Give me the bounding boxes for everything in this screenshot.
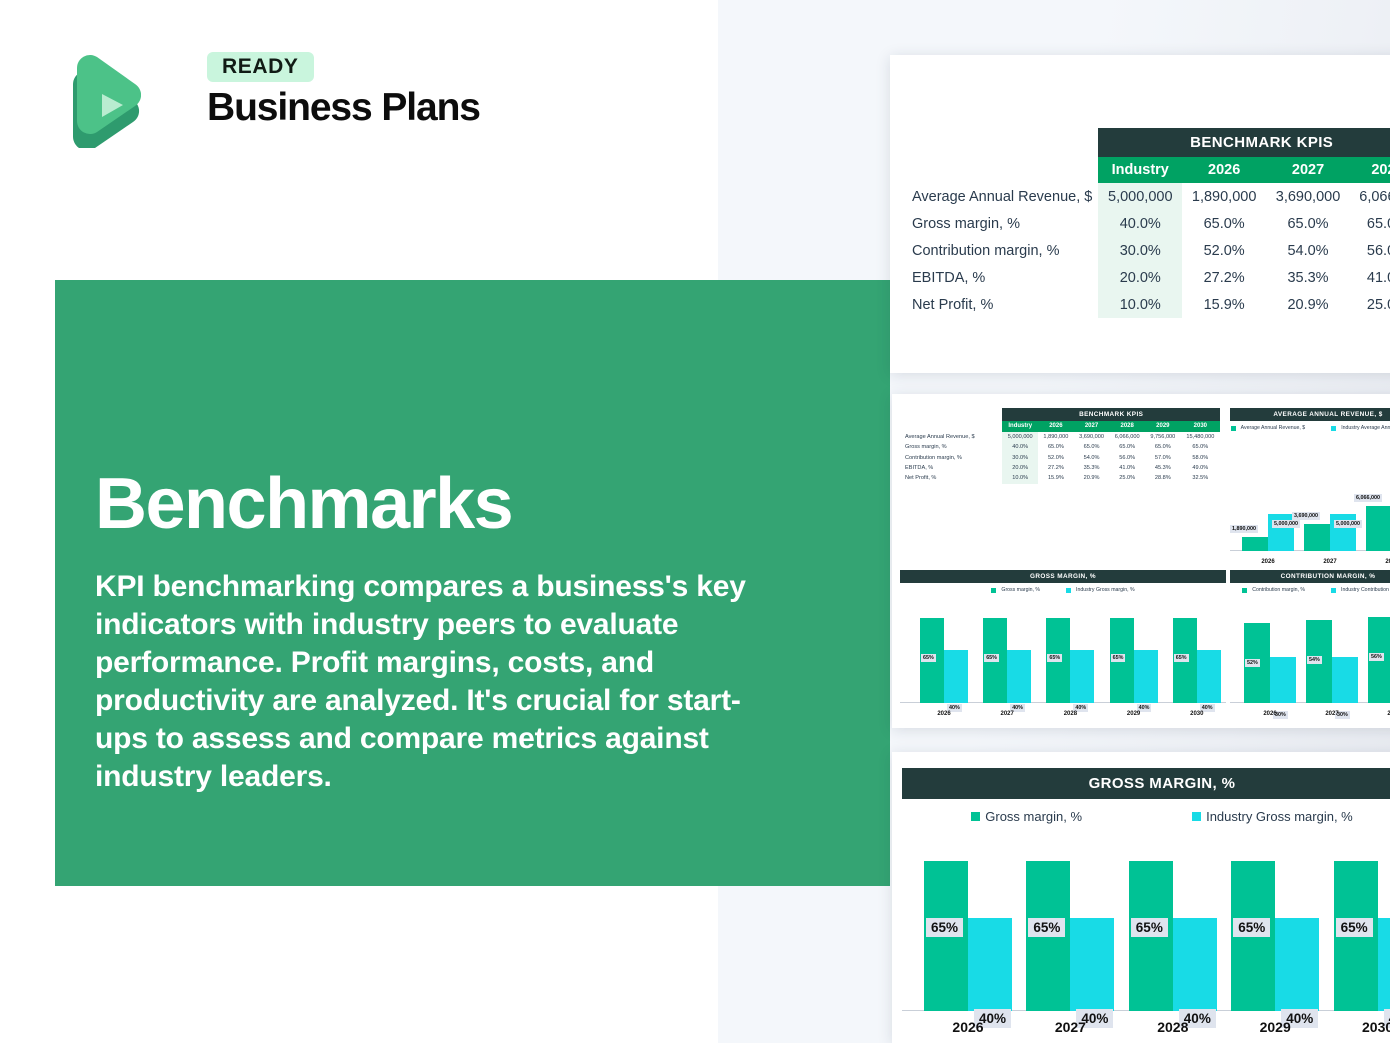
table-cell-value: 65.0% xyxy=(1181,442,1220,452)
table-body-top: BENCHMARK KPISIndustry202620272028Averag… xyxy=(900,128,1390,318)
table-row-label: Net Profit, % xyxy=(900,473,1002,483)
table-row: Average Annual Revenue, $5,000,0001,890,… xyxy=(900,432,1220,442)
x-axis-label: 2026 xyxy=(908,711,980,717)
table-rowlabel-header xyxy=(900,157,1098,183)
chart-average-annual-revenue: AVERAGE ANNUAL REVENUE, $ Average Annual… xyxy=(1230,408,1390,568)
table-cell-value: 35.3% xyxy=(1074,463,1110,473)
legend-swatch xyxy=(991,588,996,593)
table-cell-industry: 40.0% xyxy=(1002,442,1038,452)
chart-group: 65%40%2029 xyxy=(1098,597,1161,719)
page-title: Benchmarks xyxy=(95,468,512,540)
table-cell-value: 15.9% xyxy=(1182,291,1266,318)
chart-group: 65%40%2026 xyxy=(908,597,971,719)
chart-group: 6,066,0005,000,0002028 xyxy=(1360,435,1390,567)
benchmark-kpis-table-full: BENCHMARK KPISIndustry202620272028202920… xyxy=(900,408,1220,484)
ready-badge: READY xyxy=(207,52,314,82)
table-row-label: EBITDA, % xyxy=(900,264,1098,291)
table-row: EBITDA, %20.0%27.2%35.3%41.0% xyxy=(900,264,1390,291)
brand-wordmark: READY Business Plans xyxy=(207,52,487,129)
table-column-header: 2029 xyxy=(1145,421,1181,432)
chart-plot-gross-margin-mini: 65%40%202665%40%202765%40%202865%40%2029… xyxy=(900,597,1226,719)
table-row: Gross margin, %40.0%65.0%65.0%65.0% xyxy=(900,210,1390,237)
table-row: Average Annual Revenue, $5,000,0001,890,… xyxy=(900,183,1390,210)
table-cell-value: 56.0% xyxy=(1350,237,1390,264)
card-gross-margin-large: GROSS MARGIN, % Gross margin, %Industry … xyxy=(892,752,1390,1043)
legend-item: Industry Contribution margin, % xyxy=(1331,587,1390,593)
chart-gross-margin-mini: GROSS MARGIN, % Gross margin, %Industry … xyxy=(900,570,1226,720)
bar-industry xyxy=(1275,918,1319,1011)
table-column-header: Industry xyxy=(1002,421,1038,432)
table-cell-value: 65.0% xyxy=(1109,442,1145,452)
chart-legend-contribution-margin: Contribution margin, %Industry Contribut… xyxy=(1230,587,1390,593)
x-axis-label: 2026 xyxy=(1236,559,1300,565)
table-title: BENCHMARK KPIS xyxy=(1098,128,1390,157)
chart-group: 1,890,0005,000,0002026 xyxy=(1236,435,1298,567)
legend-swatch xyxy=(1242,588,1247,593)
chart-group: 54%30%2027 xyxy=(1298,597,1360,719)
table-row-label: Average Annual Revenue, $ xyxy=(900,432,1002,442)
table-cell-value: 65.0% xyxy=(1182,210,1266,237)
table-cell-value: 65.0% xyxy=(1266,210,1350,237)
x-axis-label: 2027 xyxy=(971,711,1043,717)
legend-swatch xyxy=(1331,426,1336,431)
bar-value-label: 65% xyxy=(926,918,963,937)
table-cell-industry: 5,000,000 xyxy=(1002,432,1038,442)
legend-item: Industry Average Annual Revenue, $ xyxy=(1331,425,1390,431)
chart-group: 65%40%2030 xyxy=(1161,597,1224,719)
table-cell-value: 49.0% xyxy=(1181,463,1220,473)
legend-swatch xyxy=(971,812,980,821)
table-row: Gross margin, %40.0%65.0%65.0%65.0%65.0%… xyxy=(900,442,1220,452)
table-column-header: 2028 xyxy=(1350,157,1390,183)
table-cell-value: 54.0% xyxy=(1266,237,1350,264)
bar-value-label: 65% xyxy=(1028,918,1065,937)
table-cell-industry: 10.0% xyxy=(1002,473,1038,483)
legend-swatch xyxy=(1192,812,1201,821)
chart-group: 65%40%2028 xyxy=(1115,832,1217,1037)
table-body-mid: BENCHMARK KPISIndustry202620272028202920… xyxy=(900,408,1220,484)
legend-item: Industry Gross margin, % xyxy=(1066,587,1135,593)
table-cell-value: 65.0% xyxy=(1038,442,1074,452)
table-cell-value: 20.9% xyxy=(1074,473,1110,483)
table-column-header: 2026 xyxy=(1182,157,1266,183)
bar-company xyxy=(1366,506,1390,551)
table-column-header: 2030 xyxy=(1181,421,1220,432)
x-axis-label: 2027 xyxy=(1012,1019,1128,1035)
table-cell-value: 27.2% xyxy=(1182,264,1266,291)
table-cell-value: 1,890,000 xyxy=(1038,432,1074,442)
table-row-label: Average Annual Revenue, $ xyxy=(900,183,1098,210)
x-axis-label: 2026 xyxy=(1236,711,1304,717)
table-cell-value: 27.2% xyxy=(1038,463,1074,473)
chart-group: 65%40%2029 xyxy=(1217,832,1319,1037)
chart-plot-revenue: 1,890,0005,000,00020263,690,0005,000,000… xyxy=(1230,435,1390,567)
table-rowlabel-header xyxy=(900,421,1002,432)
bar-industry xyxy=(1070,650,1094,703)
bar-industry xyxy=(1197,650,1221,703)
legend-label: Industry Gross margin, % xyxy=(1076,587,1135,593)
legend-item: Average Annual Revenue, $ xyxy=(1231,425,1306,431)
bar-value-label: 65% xyxy=(984,654,999,662)
table-cell-industry: 20.0% xyxy=(1002,463,1038,473)
chart-group: 56%30%2028 xyxy=(1360,597,1390,719)
bar-value-label: 52% xyxy=(1245,659,1260,667)
bar-value-label: 5,000,000 xyxy=(1272,520,1300,528)
bar-industry xyxy=(1332,657,1358,703)
table-row: Contribution margin, %30.0%52.0%54.0%56.… xyxy=(900,453,1220,463)
table-column-header: 2027 xyxy=(1074,421,1110,432)
table-corner-cell xyxy=(900,128,1098,157)
bar-value-label: 6,066,000 xyxy=(1354,494,1382,502)
table-cell-value: 41.0% xyxy=(1350,264,1390,291)
table-cell-industry: 40.0% xyxy=(1098,210,1182,237)
legend-label: Contribution margin, % xyxy=(1252,587,1305,593)
chart-group: 65%40%2027 xyxy=(971,597,1034,719)
bar-value-label: 65% xyxy=(1336,918,1373,937)
bar-industry xyxy=(1378,918,1390,1011)
chart-group: 65%40%2027 xyxy=(1012,832,1114,1037)
bar-company xyxy=(1304,524,1330,551)
bar-value-label: 65% xyxy=(1131,918,1168,937)
x-axis-label: 2030 xyxy=(1320,1019,1390,1035)
table-cell-value: 65.0% xyxy=(1074,442,1110,452)
x-axis-label: 2030 xyxy=(1161,711,1233,717)
table-cell-value: 15,480,000 xyxy=(1181,432,1220,442)
table-cell-value: 56.0% xyxy=(1109,453,1145,463)
table-cell-value: 41.0% xyxy=(1109,463,1145,473)
x-axis-label: 2026 xyxy=(910,1019,1026,1035)
table-row-label: Contribution margin, % xyxy=(900,453,1002,463)
bar-industry xyxy=(1270,657,1296,703)
legend-label: Industry Contribution margin, % xyxy=(1341,587,1390,593)
chart-plot-gross-margin-large: 65%40%202665%40%202765%40%202865%40%2029… xyxy=(902,832,1390,1037)
bar-industry xyxy=(944,650,968,703)
table-row: EBITDA, %20.0%27.2%35.3%41.0%45.3%49.0% xyxy=(900,463,1220,473)
table-cell-industry: 30.0% xyxy=(1098,237,1182,264)
bar-industry xyxy=(1007,650,1031,703)
bar-value-label: 65% xyxy=(1111,654,1126,662)
table-cell-value: 28.8% xyxy=(1145,473,1181,483)
table-row-label: Contribution margin, % xyxy=(900,237,1098,264)
legend-swatch xyxy=(1231,426,1236,431)
x-axis-label: 2028 xyxy=(1115,1019,1231,1035)
table-cell-value: 52.0% xyxy=(1182,237,1266,264)
bar-value-label: 1,890,000 xyxy=(1230,525,1258,533)
chart-legend-gross-margin-mini: Gross margin, %Industry Gross margin, % xyxy=(900,587,1226,593)
table-column-header: 2026 xyxy=(1038,421,1074,432)
brand-logo: READY Business Plans xyxy=(55,52,475,152)
bar-value-label: 56% xyxy=(1369,653,1384,661)
table-cell-value: 65.0% xyxy=(1350,210,1390,237)
hero-description: KPI benchmarking compares a business's k… xyxy=(95,568,775,797)
table-cell-value: 20.9% xyxy=(1266,291,1350,318)
bar-value-label: 5,000,000 xyxy=(1334,520,1362,528)
table-cell-value: 3,690,000 xyxy=(1074,432,1110,442)
x-axis-label: 2028 xyxy=(1360,559,1390,565)
table-row-label: Gross margin, % xyxy=(900,210,1098,237)
table-corner-cell xyxy=(900,408,1002,421)
table-cell-value: 25.0% xyxy=(1350,291,1390,318)
chart-title-contribution-margin: CONTRIBUTION MARGIN, % xyxy=(1230,570,1390,583)
table-column-header: Industry xyxy=(1098,157,1182,183)
legend-item: Gross margin, % xyxy=(971,809,1082,824)
x-axis-label: 2027 xyxy=(1298,711,1366,717)
chart-legend-gross-margin-large: Gross margin, %Industry Gross margin, % xyxy=(902,809,1390,824)
x-axis-label: 2027 xyxy=(1298,559,1362,565)
bar-value-label: 65% xyxy=(1233,918,1270,937)
legend-swatch xyxy=(1066,588,1071,593)
table-row-label: EBITDA, % xyxy=(900,463,1002,473)
legend-item: Contribution margin, % xyxy=(1242,587,1305,593)
play-mark-icon xyxy=(55,54,141,148)
bar-industry xyxy=(1173,918,1217,1011)
table-cell-industry: 20.0% xyxy=(1098,264,1182,291)
bar-value-label: 65% xyxy=(1174,654,1189,662)
bar-industry xyxy=(1134,650,1158,703)
chart-gross-margin-large: GROSS MARGIN, % Gross margin, %Industry … xyxy=(902,768,1390,1030)
table-row-label: Net Profit, % xyxy=(900,291,1098,318)
card-benchmark-table-top: BENCHMARK KPISIndustry202620272028Averag… xyxy=(890,55,1390,373)
bar-industry xyxy=(968,918,1012,1011)
benchmark-kpis-table-top: BENCHMARK KPISIndustry202620272028Averag… xyxy=(900,128,1390,318)
table-cell-value: 6,066,00 xyxy=(1350,183,1390,210)
legend-label: Gross margin, % xyxy=(1001,587,1040,593)
table-row-label: Gross margin, % xyxy=(900,442,1002,452)
table-cell-value: 52.0% xyxy=(1038,453,1074,463)
brand-name: Business Plans xyxy=(207,88,487,129)
chart-plot-contribution-margin: 52%30%202654%30%202756%30%2028 xyxy=(1230,597,1390,719)
legend-swatch xyxy=(1331,588,1336,593)
table-cell-value: 57.0% xyxy=(1145,453,1181,463)
bar-value-label: 65% xyxy=(921,654,936,662)
legend-label: Industry Average Annual Revenue, $ xyxy=(1341,425,1390,431)
bar-value-label: 3,690,000 xyxy=(1292,512,1320,520)
table-cell-value: 6,066,000 xyxy=(1109,432,1145,442)
table-cell-value: 35.3% xyxy=(1266,264,1350,291)
table-title: BENCHMARK KPIS xyxy=(1002,408,1220,421)
chart-title-gross-margin-large: GROSS MARGIN, % xyxy=(902,768,1390,799)
chart-group: 65%40%2028 xyxy=(1034,597,1097,719)
bar-industry xyxy=(1070,918,1114,1011)
table-cell-industry: 30.0% xyxy=(1002,453,1038,463)
x-axis-label: 2029 xyxy=(1098,711,1170,717)
legend-label: Average Annual Revenue, $ xyxy=(1241,425,1306,431)
table-cell-value: 32.5% xyxy=(1181,473,1220,483)
table-cell-value: 15.9% xyxy=(1038,473,1074,483)
x-axis-label: 2028 xyxy=(1034,711,1106,717)
legend-label: Industry Gross margin, % xyxy=(1206,809,1353,824)
x-axis-label: 2028 xyxy=(1360,711,1390,717)
chart-title-gross-margin-mini: GROSS MARGIN, % xyxy=(900,570,1226,583)
legend-label: Gross margin, % xyxy=(985,809,1082,824)
table-column-header: 2027 xyxy=(1266,157,1350,183)
table-cell-value: 25.0% xyxy=(1109,473,1145,483)
table-cell-industry: 10.0% xyxy=(1098,291,1182,318)
table-row: Net Profit, %10.0%15.9%20.9%25.0% xyxy=(900,291,1390,318)
chart-group: 3,690,0005,000,0002027 xyxy=(1298,435,1360,567)
chart-group: 65%40%2026 xyxy=(910,832,1012,1037)
table-cell-value: 45.3% xyxy=(1145,463,1181,473)
chart-contribution-margin-mini: CONTRIBUTION MARGIN, % Contribution marg… xyxy=(1230,570,1390,720)
table-cell-value: 9,756,000 xyxy=(1145,432,1181,442)
bar-value-label: 65% xyxy=(1047,654,1062,662)
table-row: Net Profit, %10.0%15.9%20.9%25.0%28.8%32… xyxy=(900,473,1220,483)
bar-company xyxy=(1242,537,1268,551)
hero-panel: Benchmarks KPI benchmarking compares a b… xyxy=(55,280,890,886)
chart-legend-revenue: Average Annual Revenue, $Industry Averag… xyxy=(1230,425,1390,431)
table-row: Contribution margin, %30.0%52.0%54.0%56.… xyxy=(900,237,1390,264)
table-cell-value: 1,890,000 xyxy=(1182,183,1266,210)
x-axis-label: 2029 xyxy=(1217,1019,1333,1035)
table-cell-value: 58.0% xyxy=(1181,453,1220,463)
table-column-header: 2028 xyxy=(1109,421,1145,432)
chart-group: 65%40%2030 xyxy=(1320,832,1390,1037)
chart-title-revenue: AVERAGE ANNUAL REVENUE, $ xyxy=(1230,408,1390,421)
table-cell-value: 3,690,000 xyxy=(1266,183,1350,210)
table-cell-value: 54.0% xyxy=(1074,453,1110,463)
legend-item: Industry Gross margin, % xyxy=(1192,809,1353,824)
card-dashboard-middle: BENCHMARK KPISIndustry202620272028202920… xyxy=(892,394,1390,728)
legend-item: Gross margin, % xyxy=(991,587,1040,593)
bar-value-label: 54% xyxy=(1307,656,1322,664)
chart-group: 52%30%2026 xyxy=(1236,597,1298,719)
table-cell-value: 65.0% xyxy=(1145,442,1181,452)
table-cell-industry: 5,000,000 xyxy=(1098,183,1182,210)
